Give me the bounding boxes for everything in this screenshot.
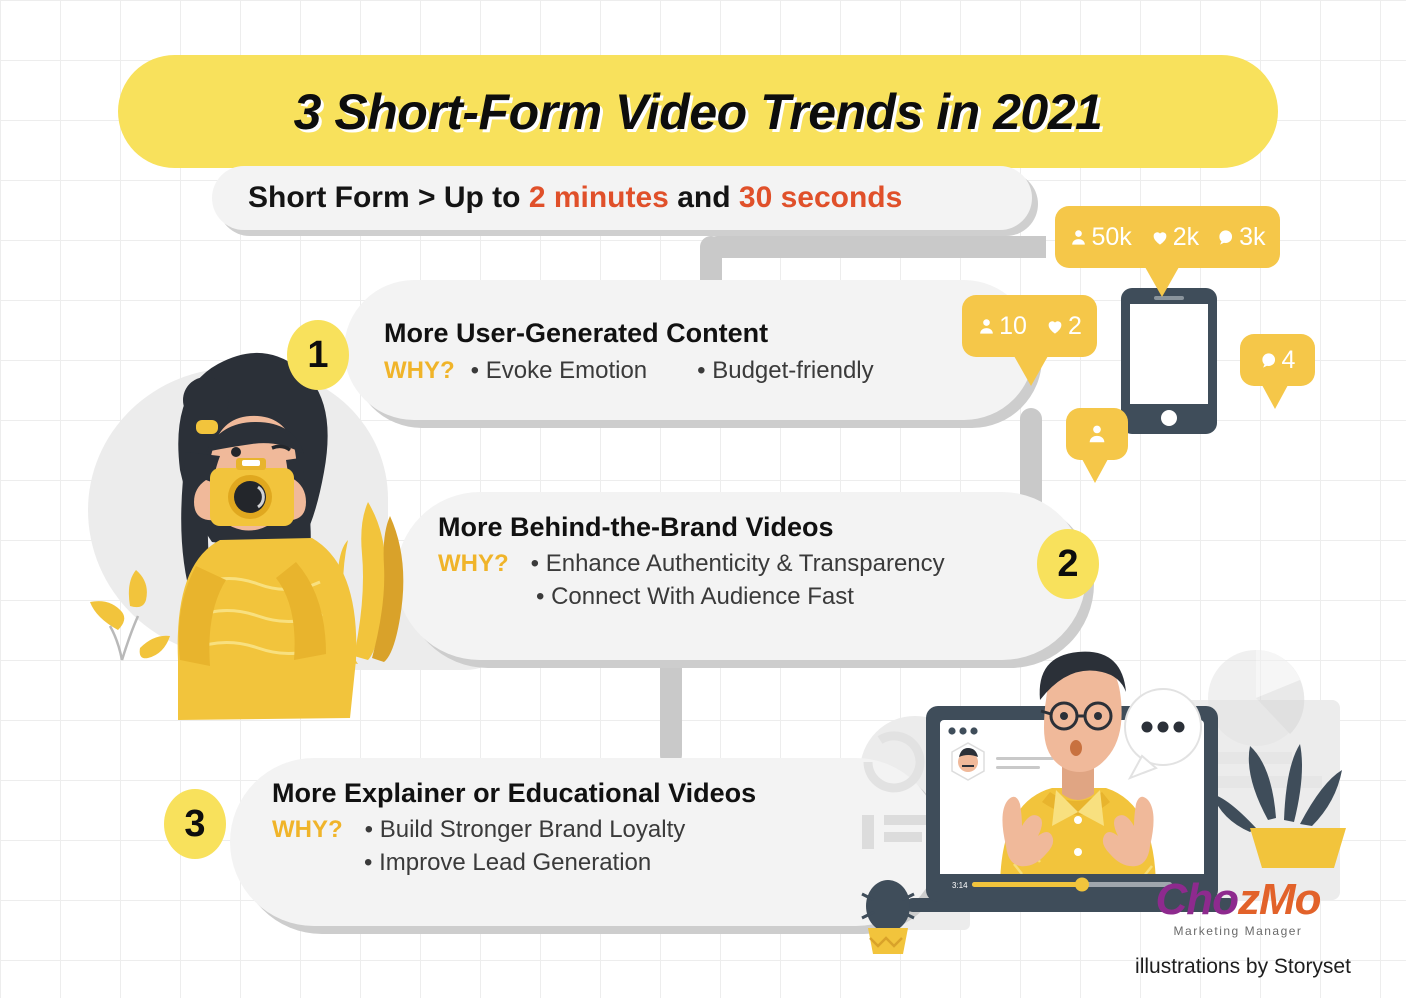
section-3-content: More Explainer or Educational Videos WHY…	[272, 778, 756, 877]
section-2-title: More Behind-the-Brand Videos	[438, 512, 945, 543]
followers-stat: 50k	[1069, 223, 1131, 252]
choozmo-logo: ChozMo Marketing Manager	[1098, 878, 1378, 938]
section-3-bullet-2: • Improve Lead Generation	[364, 849, 756, 877]
followers-count-mid: 10	[999, 312, 1027, 341]
subtitle-highlight-minutes: 2 minutes	[529, 181, 669, 214]
logo-wordmark: ChozMo	[1098, 878, 1378, 922]
section-3-title: More Explainer or Educational Videos	[272, 778, 756, 809]
section-2-why-label: WHY?	[438, 550, 509, 578]
section-3-why-label: WHY?	[272, 816, 343, 844]
comments-stat: 3k	[1217, 223, 1265, 252]
social-badge-person	[1066, 408, 1128, 460]
comments-stat-right: 4	[1260, 346, 1296, 375]
phone-screen	[1130, 304, 1208, 404]
subtitle-prefix: Short Form > Up to	[248, 181, 529, 214]
page-title: 3 Short-Form Video Trends in 2021	[118, 55, 1278, 168]
section-2-bullet-1: • Enhance Authenticity & Transparency	[531, 550, 945, 578]
comments-count: 3k	[1239, 223, 1265, 252]
svg-text:3:14: 3:14	[952, 881, 968, 890]
section-1-bullet-2: • Budget-friendly	[697, 357, 874, 385]
social-badge-top: 50k 2k 3k	[1055, 206, 1280, 268]
followers-stat-mid: 10	[977, 312, 1027, 341]
illustration-credit: illustrations by Storyset	[1098, 955, 1388, 979]
comment-icon	[1217, 228, 1236, 247]
section-1-bullet-1: • Evoke Emotion	[471, 357, 647, 385]
section-1-why-label: WHY?	[384, 357, 455, 385]
logo-part-cho: Cho	[1155, 875, 1238, 924]
section-2-bullet-2: • Connect With Audience Fast	[536, 583, 945, 611]
section-1-content: More User-Generated Content WHY? • Evoke…	[384, 318, 874, 385]
subtitle-text: Short Form > Up to 2 minutes and 30 seco…	[212, 181, 902, 215]
logo-tagline: Marketing Manager	[1098, 924, 1378, 938]
likes-count-mid: 2	[1068, 312, 1082, 341]
section-1-title: More User-Generated Content	[384, 318, 874, 349]
social-badge-right: 4	[1240, 334, 1315, 386]
logo-part-zmo: zMo	[1238, 875, 1321, 924]
section-number-1: 1	[287, 320, 349, 390]
social-badge-middle: 10 2	[962, 295, 1097, 357]
section-number-2: 2	[1037, 529, 1099, 599]
subtitle-highlight-seconds: 30 seconds	[739, 181, 902, 214]
likes-stat: 2k	[1150, 223, 1199, 252]
section-number-3: 3	[164, 789, 226, 859]
followers-count: 50k	[1091, 223, 1131, 252]
heart-icon	[1045, 317, 1065, 336]
section-3-bullet-1: • Build Stronger Brand Loyalty	[365, 816, 686, 844]
smartphone-illustration	[1121, 288, 1217, 434]
subtitle-mid: and	[669, 181, 739, 214]
comment-icon	[1260, 351, 1279, 370]
badge-tail	[1145, 267, 1179, 297]
comments-count-right: 4	[1282, 346, 1296, 375]
heart-icon	[1150, 228, 1170, 247]
likes-count: 2k	[1173, 223, 1199, 252]
phone-home-button	[1161, 410, 1177, 426]
badge-tail	[1014, 356, 1048, 386]
person-icon	[1069, 228, 1088, 247]
person-icon	[1086, 423, 1108, 445]
badge-tail	[1262, 385, 1288, 409]
subtitle-pill: Short Form > Up to 2 minutes and 30 seco…	[212, 166, 1032, 230]
title-banner: 3 Short-Form Video Trends in 2021	[118, 55, 1278, 168]
section-2-content: More Behind-the-Brand Videos WHY? • Enha…	[438, 512, 945, 611]
badge-tail	[1082, 459, 1108, 483]
decor-pie-chart	[1208, 650, 1304, 746]
person-icon	[977, 317, 996, 336]
likes-stat-mid: 2	[1045, 312, 1082, 341]
